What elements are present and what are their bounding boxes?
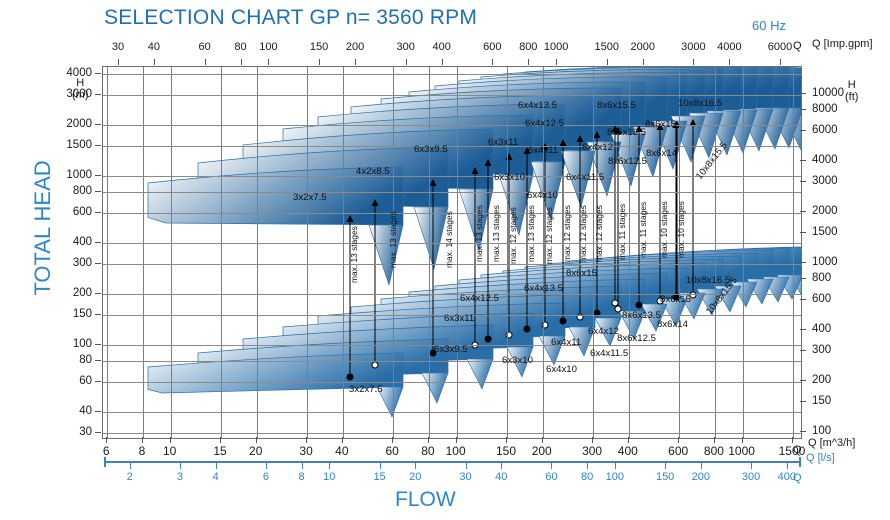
x-top-tick-label: 30 bbox=[112, 41, 124, 53]
max-stages-label: max. 12 stages bbox=[544, 207, 554, 264]
pump-model-label-upper: 8x6x14 bbox=[646, 148, 677, 159]
x-bottom-tick bbox=[220, 437, 221, 443]
x-ls-unit-label: Q [l/s] bbox=[806, 452, 835, 464]
y-right-tick bbox=[800, 160, 806, 161]
x-top-tick-label: 200 bbox=[346, 41, 364, 53]
pump-model-label-upper: 6x4x12 bbox=[582, 142, 613, 153]
x-bottom-tick bbox=[428, 437, 429, 443]
y-left-tick bbox=[95, 293, 101, 294]
x-ls-tick-label: 4 bbox=[213, 471, 219, 483]
y-right-tick-label: 2000 bbox=[812, 205, 838, 217]
y-right-tick bbox=[800, 93, 806, 94]
y-left-tick bbox=[95, 360, 101, 361]
x-top-tick-label: 1500 bbox=[595, 41, 619, 53]
x-top-corner-symbol: Q bbox=[793, 40, 802, 52]
x-bottom-tick bbox=[142, 437, 143, 443]
x-top-tick bbox=[268, 59, 269, 65]
x-bottom-tick bbox=[542, 437, 543, 443]
y-left-tick-label: 150 bbox=[46, 308, 92, 320]
x-bottom-tick bbox=[170, 437, 171, 443]
max-stages-label: max. 13 stages bbox=[388, 211, 398, 268]
y-left-tick-label: 60 bbox=[46, 375, 92, 387]
max-stages-label: max. 12 stages bbox=[594, 205, 604, 262]
y-left-tick-label: 1000 bbox=[46, 169, 92, 181]
x-top-tick-label: 300 bbox=[397, 41, 415, 53]
y-right-unit-line2: (ft) bbox=[845, 92, 858, 104]
x-top-tick-label: 800 bbox=[519, 41, 537, 53]
max-stages-label: max. 12 stages bbox=[508, 207, 518, 264]
y-left-tick-label: 2000 bbox=[46, 118, 92, 130]
y-left-tick-label: 1500 bbox=[46, 139, 92, 151]
y-right-tick bbox=[800, 262, 806, 263]
y-left-tick-label: 200 bbox=[46, 287, 92, 299]
x-top-tick bbox=[729, 59, 730, 65]
x-top-tick bbox=[492, 59, 493, 65]
pump-model-label-upper: 6x3x9.5 bbox=[414, 144, 448, 155]
pump-model-label-upper: 8x6x12.5 bbox=[608, 156, 647, 167]
max-stages-label: max. 12 stages bbox=[578, 205, 588, 262]
x-bottom-tick bbox=[256, 437, 257, 443]
max-stages-label: max. 14 stages bbox=[444, 211, 454, 268]
max-stages-label: max. 10 stages bbox=[659, 201, 669, 258]
x-bottom-tick-label: 800 bbox=[704, 444, 724, 458]
x-top-tick bbox=[118, 59, 119, 65]
x-bottom-tick bbox=[678, 437, 679, 443]
y-right-tick-label: 4000 bbox=[812, 154, 838, 166]
pump-model-label-upper: 6x4x11.5 bbox=[566, 172, 604, 183]
x-ls-tick-label: 20 bbox=[409, 471, 421, 483]
x-ls-tick-label: 6 bbox=[263, 471, 269, 483]
x-ls-tick bbox=[216, 463, 217, 469]
pump-model-label-upper: 8x6x15 bbox=[645, 119, 676, 130]
x-top-tick bbox=[319, 59, 320, 65]
x-ls-tick-label: 60 bbox=[545, 471, 557, 483]
x-top-tick bbox=[556, 59, 557, 65]
x-ls-tick bbox=[615, 463, 616, 469]
y-right-tick bbox=[800, 380, 806, 381]
x-top-tick bbox=[528, 59, 529, 65]
pump-model-label-lower: 6x3x10 bbox=[502, 355, 533, 366]
x-ls-tick-label: 80 bbox=[581, 471, 593, 483]
y-left-tick bbox=[95, 175, 101, 176]
x-bottom-tick bbox=[592, 437, 593, 443]
y-right-tick-label: 400 bbox=[812, 323, 831, 335]
y-left-tick-label: 400 bbox=[46, 236, 92, 248]
pump-model-label-upper: 6x3x10 bbox=[494, 172, 525, 183]
x-ls-tick bbox=[701, 463, 702, 469]
x-ls-tick bbox=[180, 463, 181, 469]
x-ls-tick-label: 400 bbox=[778, 471, 796, 483]
pump-model-label-lower: 8x6x15 bbox=[660, 294, 691, 305]
ls-axis-cap-right bbox=[799, 457, 801, 467]
y-left-tick-label: 100 bbox=[46, 338, 92, 350]
y-left-tick-label: 600 bbox=[46, 206, 92, 218]
x-bottom-tick-label: 80 bbox=[421, 444, 434, 458]
x-ls-tick-label: 40 bbox=[495, 471, 507, 483]
y-left-tick bbox=[95, 263, 101, 264]
x-bottom-tick bbox=[392, 437, 393, 443]
x-bottom-tick-label: 200 bbox=[532, 444, 552, 458]
x-bottom-tick-label: 100 bbox=[446, 444, 466, 458]
x-bottom-tick-label: 150 bbox=[496, 444, 516, 458]
x-bottom-tick-label: 15 bbox=[213, 444, 226, 458]
pump-model-label-lower: 6x4x11.5 bbox=[590, 348, 628, 359]
max-stages-label: max. 13 stages bbox=[474, 205, 484, 262]
y-right-tick-label: 1500 bbox=[812, 226, 838, 238]
y-left-tick-label: 800 bbox=[46, 185, 92, 197]
y-left-tick-label: 3000 bbox=[46, 88, 92, 100]
max-stages-label: max. 10 stages bbox=[676, 201, 686, 258]
pump-model-label-lower: 8x6x14 bbox=[657, 319, 688, 330]
y-right-tick bbox=[800, 350, 806, 351]
x-ls-tick-label: 300 bbox=[742, 471, 760, 483]
x-bottom-tick-label: 300 bbox=[582, 444, 602, 458]
y-right-tick bbox=[800, 278, 806, 279]
x-bottom-tick bbox=[456, 437, 457, 443]
x-top-tick bbox=[406, 59, 407, 65]
y-left-tick bbox=[95, 314, 101, 315]
x-top-tick-label: 150 bbox=[310, 41, 328, 53]
y-right-tick-label: 300 bbox=[812, 344, 831, 356]
x-top-tick bbox=[780, 59, 781, 65]
x-top-tick-label: 6000 bbox=[768, 41, 792, 53]
pump-model-label-lower: 8x6x15 bbox=[566, 268, 597, 279]
x-axis-title: FLOW bbox=[395, 488, 456, 512]
max-stages-label: max. 11 stages bbox=[617, 204, 627, 260]
x-bottom-tick bbox=[506, 437, 507, 443]
x-ls-tick bbox=[501, 463, 502, 469]
y-left-tick bbox=[95, 191, 101, 192]
x-top-tick bbox=[154, 59, 155, 65]
y-left-tick bbox=[95, 94, 101, 95]
x-top-tick-label: 600 bbox=[483, 41, 501, 53]
chart-overlay: 3040608010015020030040060080010001500200… bbox=[102, 66, 800, 437]
x-top-tick bbox=[355, 59, 356, 65]
x-bottom-unit-label: Q [m^3/h] bbox=[808, 437, 855, 449]
max-stages-label: max. 13 stages bbox=[349, 226, 359, 283]
y-right-tick bbox=[800, 181, 806, 182]
y-right-tick bbox=[800, 329, 806, 330]
y-left-tick-label: 40 bbox=[46, 405, 92, 417]
x-top-tick-label: 100 bbox=[259, 41, 277, 53]
y-left-tick bbox=[95, 145, 101, 146]
x-ls-tick-label: 100 bbox=[606, 471, 624, 483]
x-top-tick-label: 1000 bbox=[544, 41, 568, 53]
x-ls-tick bbox=[587, 463, 588, 469]
x-ls-tick-label: 200 bbox=[692, 471, 710, 483]
x-bottom-tick bbox=[742, 437, 743, 443]
y-right-tick bbox=[800, 211, 806, 212]
x-bottom-tick bbox=[714, 437, 715, 443]
y-right-tick bbox=[800, 401, 806, 402]
x-ls-tick bbox=[787, 463, 788, 469]
y-left-tick bbox=[95, 212, 101, 213]
y-right-unit-line1: H bbox=[845, 80, 858, 92]
y-left-tick-label: 300 bbox=[46, 257, 92, 269]
pump-model-label-lower: 6x4x12.5 bbox=[460, 293, 499, 304]
y-right-tick bbox=[800, 431, 806, 432]
x-bottom-tick-label: 600 bbox=[668, 444, 688, 458]
pump-model-label-upper: 6x4x12.5 bbox=[525, 118, 564, 129]
x-top-tick-label: 60 bbox=[198, 41, 210, 53]
y-right-tick-label: 800 bbox=[812, 272, 831, 284]
y-right-tick-label: 6000 bbox=[812, 124, 838, 136]
x-top-tick bbox=[607, 59, 608, 65]
ls-axis-cap-left bbox=[104, 457, 106, 467]
y-right-tick bbox=[800, 299, 806, 300]
y-left-tick bbox=[95, 411, 101, 412]
pump-model-label-upper: 4x2x8.5 bbox=[356, 166, 390, 177]
x-bottom-tick-label: 30 bbox=[299, 444, 312, 458]
y-right-tick-label: 1000 bbox=[812, 256, 838, 268]
pump-model-label-lower: 8x6x13.5 bbox=[622, 310, 661, 321]
x-bottom-tick-label: 10 bbox=[163, 444, 176, 458]
y-right-tick bbox=[800, 232, 806, 233]
x-bottom-tick-label: 6 bbox=[103, 444, 110, 458]
x-bottom-tick-label: 40 bbox=[335, 444, 348, 458]
x-bottom-tick-label: 1000 bbox=[728, 444, 755, 458]
x-bottom-tick-label: 400 bbox=[618, 444, 638, 458]
y-left-tick bbox=[95, 381, 101, 382]
x-top-tick-label: 400 bbox=[432, 41, 450, 53]
pump-model-label-upper: 8x6x15.5 bbox=[597, 100, 636, 111]
max-stages-label: max. 13 stages bbox=[526, 205, 536, 262]
x-top-tick bbox=[643, 59, 644, 65]
pump-model-label-lower: 6x3x11 bbox=[444, 313, 474, 324]
y-right-tick-label: 200 bbox=[812, 374, 831, 386]
x-bottom-tick bbox=[342, 437, 343, 443]
y-left-tick bbox=[95, 124, 101, 125]
pump-model-label-lower: 6x4x12 bbox=[588, 326, 619, 337]
x-ls-tick-label: 2 bbox=[127, 471, 133, 483]
max-stages-label: max. 11 stages bbox=[638, 202, 648, 258]
y-right-tick-label: 100 bbox=[812, 425, 831, 437]
pump-model-label-lower: 6x3x9.5 bbox=[434, 344, 468, 355]
y-right-tick-label: 3000 bbox=[812, 175, 838, 187]
x-ls-tick-label: 150 bbox=[656, 471, 674, 483]
x-ls-tick bbox=[665, 463, 666, 469]
x-ls-tick bbox=[266, 463, 267, 469]
pump-model-label-lower: 6x4x11 bbox=[551, 337, 581, 348]
y-right-tick-label: 10000 bbox=[812, 87, 844, 99]
x-ls-tick bbox=[130, 463, 131, 469]
x-top-unit-label: Q [Imp.gpm] bbox=[812, 38, 873, 50]
y-right-tick-label: 8000 bbox=[812, 103, 838, 115]
x-ls-tick bbox=[329, 463, 330, 469]
x-top-tick-label: 80 bbox=[234, 41, 246, 53]
pump-model-label-upper: 6x4x10 bbox=[527, 190, 558, 201]
pump-model-label-upper: 6x4x13.5 bbox=[518, 100, 557, 111]
y-left-tick bbox=[95, 432, 101, 433]
x-top-tick bbox=[442, 59, 443, 65]
x-top-tick-label: 4000 bbox=[717, 41, 741, 53]
y-right-tick bbox=[800, 109, 806, 110]
x-ls-tick bbox=[551, 463, 552, 469]
pump-model-label-lower: 3x2x7.5 bbox=[349, 384, 383, 395]
x-bottom-tick-label: 60 bbox=[386, 444, 399, 458]
x-ls-tick-label: 15 bbox=[373, 471, 385, 483]
x-ls-tick-label: 8 bbox=[299, 471, 305, 483]
x-ls-tick bbox=[415, 463, 416, 469]
x-ls-tick-label: 10 bbox=[323, 471, 335, 483]
x-ls-tick-label: 30 bbox=[459, 471, 471, 483]
x-bottom-tick bbox=[306, 437, 307, 443]
y-right-unit-label: H (ft) bbox=[845, 80, 858, 103]
pump-model-label-upper: 6x3x11 bbox=[488, 137, 518, 148]
x-top-tick bbox=[205, 59, 206, 65]
x-ls-tick-label: 3 bbox=[177, 471, 183, 483]
pump-model-label-lower: 8x6x12.5 bbox=[617, 333, 656, 344]
pump-model-label-upper: 10x8x16.5 bbox=[678, 98, 722, 109]
y-left-tick-label: 4000 bbox=[46, 67, 92, 79]
x-ls-tick bbox=[380, 463, 381, 469]
y-left-tick-label: 80 bbox=[46, 354, 92, 366]
flow-ls-axis bbox=[104, 461, 801, 463]
x-top-tick bbox=[693, 59, 694, 65]
y-left-tick bbox=[95, 73, 101, 74]
max-stages-label: max. 13 stages bbox=[491, 205, 501, 262]
x-top-tick-label: 40 bbox=[148, 41, 160, 53]
x-top-tick bbox=[241, 59, 242, 65]
y-left-tick bbox=[95, 242, 101, 243]
x-bottom-tick-label: 1500 bbox=[779, 444, 806, 458]
x-ls-tick bbox=[751, 463, 752, 469]
frequency-label: 60 Hz bbox=[752, 18, 786, 33]
x-bottom-tick bbox=[792, 437, 793, 443]
x-bottom-tick-label: 8 bbox=[139, 444, 146, 458]
page-title: SELECTION CHART GP n= 3560 RPM bbox=[104, 6, 477, 30]
x-bottom-tick bbox=[106, 437, 107, 443]
max-stages-label: max. 12 stages bbox=[562, 205, 572, 262]
x-bottom-tick bbox=[628, 437, 629, 443]
x-ls-tick bbox=[302, 463, 303, 469]
x-top-tick-label: 3000 bbox=[681, 41, 705, 53]
pump-model-label-upper: 3x2x7.5 bbox=[293, 192, 327, 203]
y-left-tick bbox=[95, 344, 101, 345]
x-ls-tick bbox=[466, 463, 467, 469]
pump-model-label-lower: 6x4x10 bbox=[546, 364, 577, 375]
x-top-tick-label: 2000 bbox=[630, 41, 654, 53]
y-left-tick-label: 30 bbox=[46, 426, 92, 438]
pump-model-label-upper: 8x6x13.5 bbox=[607, 127, 646, 138]
y-right-tick bbox=[800, 130, 806, 131]
x-bottom-tick-label: 20 bbox=[249, 444, 262, 458]
y-right-tick-label: 600 bbox=[812, 293, 831, 305]
y-right-tick-label: 150 bbox=[812, 395, 831, 407]
pump-model-label-upper: 6x4x11 bbox=[528, 145, 558, 156]
pump-model-label-lower: 6x4x13.5 bbox=[524, 283, 563, 294]
pump-model-label-upper: 10x8x15.5 bbox=[694, 140, 730, 182]
